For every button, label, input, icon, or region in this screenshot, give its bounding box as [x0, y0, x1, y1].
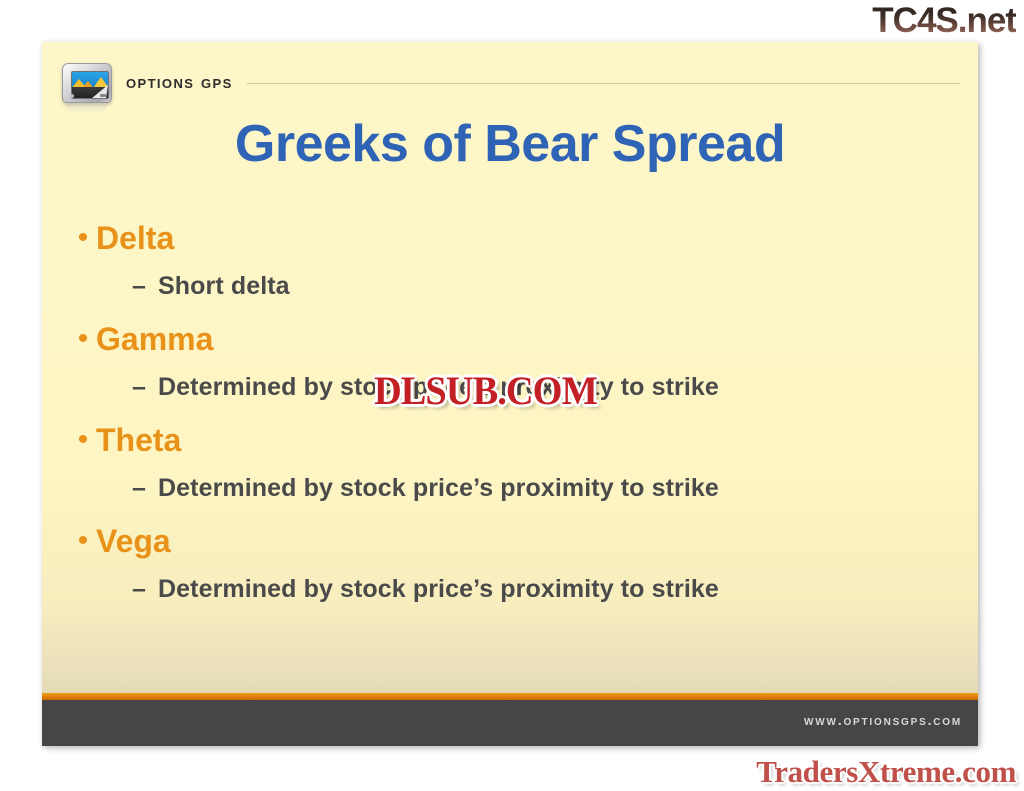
bullet-group-theta: • Theta – Determined by stock price’s pr…: [70, 422, 954, 520]
dash-marker-icon: –: [132, 375, 158, 400]
slide-header: Options GPS: [42, 52, 978, 114]
bullet-item-theta: • Theta: [70, 422, 954, 474]
dash-marker-icon: –: [132, 274, 158, 299]
device-reflection: [66, 103, 106, 113]
sub-bullet-item-theta: – Determined by stock price’s proximity …: [70, 474, 954, 520]
bullet-marker-icon: •: [70, 223, 96, 253]
bullet-group-delta: • Delta – Short delta: [70, 220, 954, 318]
footer-website-url: www.OptionsGPS.com: [804, 712, 962, 728]
bullet-list: • Delta – Short delta • Gamma – Determin…: [70, 220, 954, 624]
tc4s-brand-label: TC4S.net: [872, 2, 1016, 40]
bullet-label-delta: Delta: [96, 220, 174, 257]
dlsub-watermark: DLSUB.COM: [374, 371, 597, 411]
bullet-item-delta: • Delta: [70, 220, 954, 272]
sub-bullet-item-vega: – Determined by stock price’s proximity …: [70, 575, 954, 621]
sub-bullet-item-delta: – Short delta: [70, 272, 954, 318]
sub-bullet-text-theta: Determined by stock price’s proximity to…: [158, 474, 719, 503]
header-divider-rule: [247, 83, 960, 84]
slide-footer-bar: www.OptionsGPS.com: [42, 700, 978, 746]
tradersxtreme-watermark: TradersXtreme.com: [756, 756, 1016, 787]
gps-device-icon: [60, 61, 112, 105]
bullet-marker-icon: •: [70, 324, 96, 354]
device-body: [62, 63, 112, 103]
bullet-label-vega: Vega: [96, 523, 171, 560]
dash-marker-icon: –: [132, 476, 158, 501]
device-indicator-dot: [70, 94, 74, 98]
bullet-marker-icon: •: [70, 425, 96, 455]
bullet-label-theta: Theta: [96, 422, 181, 459]
bullet-item-vega: • Vega: [70, 523, 954, 575]
slide-title: Greeks of Bear Spread: [42, 114, 978, 174]
dash-marker-icon: –: [132, 577, 158, 602]
options-gps-wordmark: Options GPS: [126, 72, 233, 94]
bullet-marker-icon: •: [70, 526, 96, 556]
sub-bullet-text-delta: Short delta: [158, 272, 290, 301]
device-button: [100, 94, 106, 97]
sub-bullet-text-vega: Determined by stock price’s proximity to…: [158, 575, 719, 604]
footer-accent-bar: [42, 693, 978, 700]
bullet-label-gamma: Gamma: [96, 321, 213, 358]
bullet-item-gamma: • Gamma: [70, 321, 954, 373]
bullet-group-vega: • Vega – Determined by stock price’s pro…: [70, 523, 954, 621]
